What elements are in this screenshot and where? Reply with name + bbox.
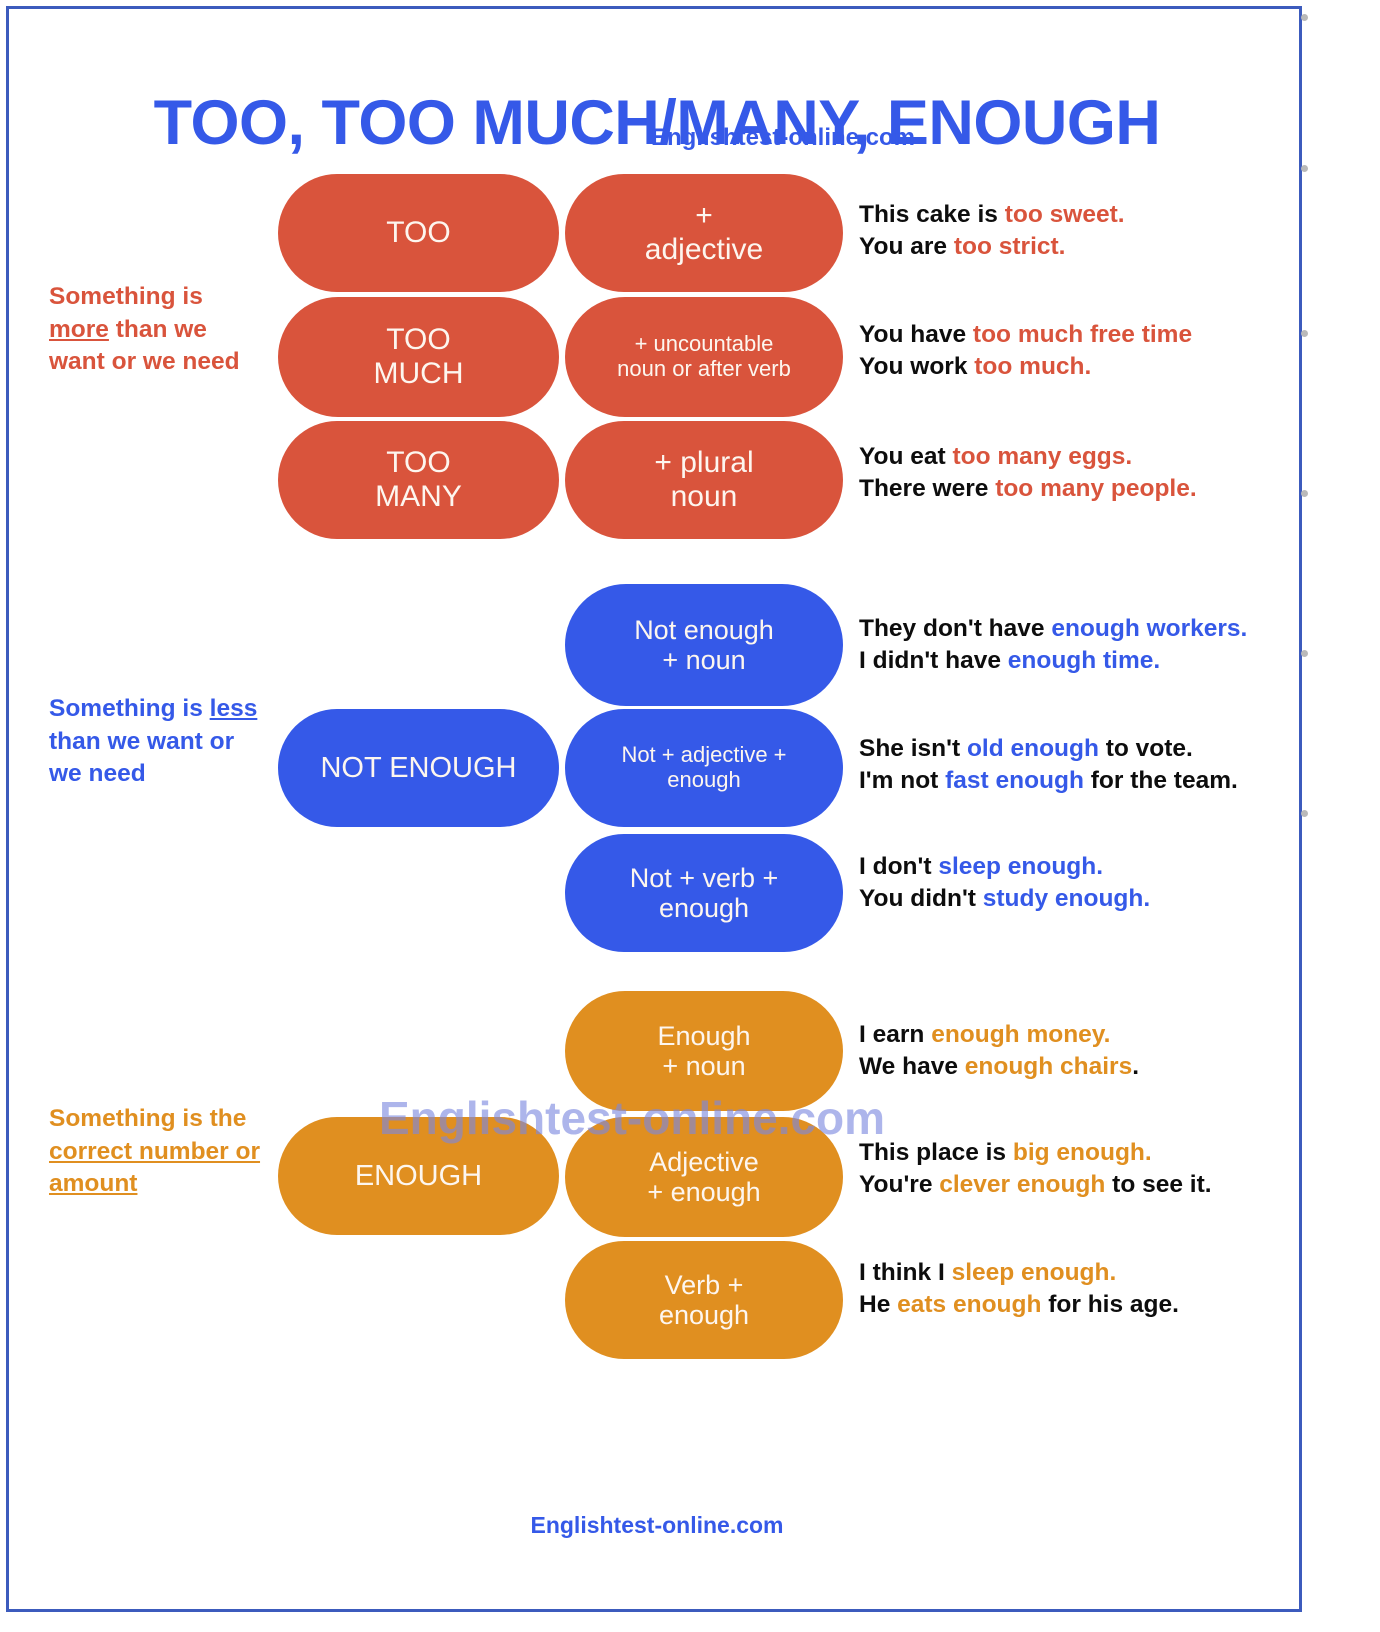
example-sentence: You have too much free time	[859, 319, 1309, 351]
infographic-page: TOO, TOO MUCH/MANY, ENOUGH Englishtest-o…	[6, 6, 1302, 1612]
example-block: This cake is too sweet.You are too stric…	[859, 199, 1309, 263]
example-sentence: This place is big enough.	[859, 1137, 1309, 1169]
example-plain: This cake is	[859, 201, 1005, 228]
pill-label: TOOMUCH	[374, 323, 464, 391]
selection-handle-dot[interactable]	[1301, 490, 1308, 497]
example-sentence: I earn enough money.	[859, 1019, 1309, 1051]
example-plain: You eat	[859, 443, 952, 470]
pill-label: + pluralnoun	[654, 446, 753, 514]
example-accent: enough workers.	[1051, 615, 1247, 642]
example-plain: I don't	[859, 853, 938, 880]
example-plain: You work	[859, 353, 974, 380]
pill-label: + uncountablenoun or after verb	[617, 332, 791, 382]
example-accent: too strict.	[954, 233, 1066, 260]
example-plain: I earn	[859, 1021, 931, 1048]
example-plain-tail: to see it.	[1105, 1171, 1211, 1198]
category-pill-enough-group: ENOUGH	[278, 1117, 559, 1235]
desc-text-emphasis: less	[210, 695, 258, 722]
example-accent: study enough.	[983, 885, 1150, 912]
example-plain: This place is	[859, 1139, 1013, 1166]
example-sentence: I'm not fast enough for the team.	[859, 765, 1309, 797]
structure-pill-row-1: Not + adjective +enough	[565, 709, 843, 827]
example-plain: They don't have	[859, 615, 1051, 642]
desc-text-pre: Something is the	[49, 1105, 246, 1132]
example-plain: You didn't	[859, 885, 983, 912]
footer-brand: Englishtest-online.com	[9, 1512, 1305, 1539]
example-plain: I didn't have	[859, 647, 1008, 674]
structure-pill-row-0: Not enough+ noun	[565, 584, 843, 706]
example-plain-tail: to vote.	[1099, 735, 1193, 762]
example-sentence: You didn't study enough.	[859, 883, 1309, 915]
example-sentence: There were too many people.	[859, 473, 1309, 505]
category-pill-row-0: TOO	[278, 174, 559, 292]
example-sentence: You eat too many eggs.	[859, 441, 1309, 473]
example-block: They don't have enough workers.I didn't …	[859, 613, 1309, 677]
pill-label: Not + verb +enough	[630, 863, 779, 924]
example-sentence: You are too strict.	[859, 231, 1309, 263]
pill-label: ENOUGH	[355, 1160, 482, 1193]
pill-label: Adjective+ enough	[647, 1147, 760, 1208]
group-description: Something is more than we want or we nee…	[49, 281, 264, 379]
example-accent: clever enough	[939, 1171, 1105, 1198]
example-block: She isn't old enough to vote.I'm not fas…	[859, 733, 1309, 797]
example-block: I earn enough money.We have enough chair…	[859, 1019, 1309, 1083]
example-accent: too much.	[974, 353, 1091, 380]
example-block: I don't sleep enough.You didn't study en…	[859, 851, 1309, 915]
example-sentence: They don't have enough workers.	[859, 613, 1309, 645]
example-sentence: We have enough chairs.	[859, 1051, 1309, 1083]
example-accent: too much free time	[973, 321, 1192, 348]
structure-pill-row-1: Adjective+ enough	[565, 1117, 843, 1237]
example-accent: too sweet.	[1005, 201, 1125, 228]
example-block: This place is big enough.You're clever e…	[859, 1137, 1309, 1201]
structure-pill-row-2: Not + verb +enough	[565, 834, 843, 952]
example-plain: He	[859, 1291, 897, 1318]
example-plain: I think I	[859, 1259, 952, 1286]
example-sentence: She isn't old enough to vote.	[859, 733, 1309, 765]
structure-pill-row-0: +adjective	[565, 174, 843, 292]
category-pill-row-2: TOOMANY	[278, 421, 559, 539]
example-accent: big enough.	[1013, 1139, 1152, 1166]
structure-pill-row-1: + uncountablenoun or after verb	[565, 297, 843, 417]
selection-handle-dot[interactable]	[1301, 810, 1308, 817]
example-accent: sleep enough.	[952, 1259, 1117, 1286]
example-plain: She isn't	[859, 735, 967, 762]
header-brand: Englishtest-online.com	[9, 124, 1305, 152]
selection-handle-dot[interactable]	[1301, 14, 1308, 21]
pill-label: NOT ENOUGH	[320, 752, 516, 785]
example-accent: too many eggs.	[952, 443, 1132, 470]
pill-label: Verb +enough	[659, 1270, 749, 1331]
example-sentence: You work too much.	[859, 351, 1309, 383]
example-plain: You're	[859, 1171, 939, 1198]
group-description: Something is the correct number or amoun…	[49, 1103, 264, 1201]
category-pill-row-1: TOOMUCH	[278, 297, 559, 417]
desc-text-post: than we want or we need	[49, 728, 234, 788]
example-sentence: This cake is too sweet.	[859, 199, 1309, 231]
example-plain-tail: for the team.	[1084, 767, 1238, 794]
structure-pill-row-0: Enough+ noun	[565, 991, 843, 1111]
example-plain: You have	[859, 321, 973, 348]
group-description: Something is less than we want or we nee…	[49, 693, 264, 791]
example-plain: I'm not	[859, 767, 945, 794]
pill-label: TOOMANY	[375, 446, 462, 514]
example-accent: too many people.	[995, 475, 1196, 502]
example-sentence: You're clever enough to see it.	[859, 1169, 1309, 1201]
example-block: You eat too many eggs.There were too man…	[859, 441, 1309, 505]
desc-text-pre: Something is	[49, 695, 210, 722]
example-sentence: He eats enough for his age.	[859, 1289, 1309, 1321]
example-block: You have too much free timeYou work too …	[859, 319, 1309, 383]
example-accent: sleep enough.	[938, 853, 1103, 880]
example-plain: There were	[859, 475, 995, 502]
example-accent: enough time.	[1008, 647, 1160, 674]
example-accent: enough money.	[931, 1021, 1110, 1048]
desc-text-emphasis: correct number or amount	[49, 1138, 260, 1198]
example-sentence: I think I sleep enough.	[859, 1257, 1309, 1289]
example-plain: You are	[859, 233, 954, 260]
structure-pill-row-2: + pluralnoun	[565, 421, 843, 539]
example-accent: eats enough	[897, 1291, 1041, 1318]
example-plain-tail: for his age.	[1041, 1291, 1179, 1318]
example-plain: We have	[859, 1053, 965, 1080]
pill-label: Not enough+ noun	[634, 615, 774, 676]
example-accent: fast enough	[945, 767, 1084, 794]
example-block: I think I sleep enough.He eats enough fo…	[859, 1257, 1309, 1321]
example-plain-tail: .	[1132, 1053, 1139, 1080]
pill-label: TOO	[386, 216, 450, 250]
example-sentence: I don't sleep enough.	[859, 851, 1309, 883]
selection-handle-dot[interactable]	[1301, 330, 1308, 337]
example-sentence: I didn't have enough time.	[859, 645, 1309, 677]
category-pill-not-enough-group: NOT ENOUGH	[278, 709, 559, 827]
structure-pill-row-2: Verb +enough	[565, 1241, 843, 1359]
selection-handle-dot[interactable]	[1301, 650, 1308, 657]
pill-label: +adjective	[645, 199, 763, 267]
example-accent: enough chairs	[965, 1053, 1132, 1080]
desc-text-emphasis: more	[49, 316, 109, 343]
pill-label: Enough+ noun	[657, 1021, 750, 1082]
selection-handle-dot[interactable]	[1301, 165, 1308, 172]
pill-label: Not + adjective +enough	[621, 743, 786, 793]
desc-text-pre: Something is	[49, 283, 203, 310]
example-accent: old enough	[967, 735, 1099, 762]
